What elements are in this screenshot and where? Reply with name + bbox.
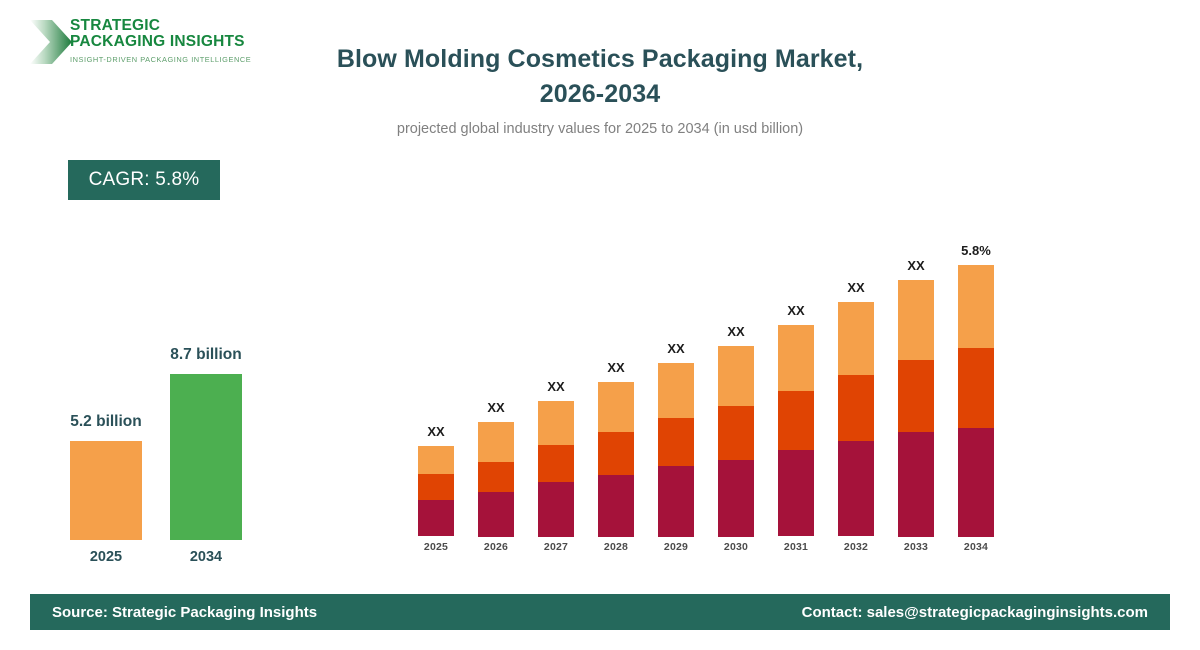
stacked-bar <box>418 446 454 537</box>
comparison-value-label: 8.7 billion <box>126 346 286 364</box>
infographic-canvas: STRATEGIC PACKAGING INSIGHTS INSIGHT-DRI… <box>0 0 1200 650</box>
footer-contact: Contact: sales@strategicpackaginginsight… <box>802 604 1148 621</box>
stacked-bar-segment <box>838 375 874 441</box>
page-subtitle: projected global industry values for 202… <box>260 120 940 138</box>
stacked-bar-segment <box>538 482 574 537</box>
comparison-year-label: 2025 <box>70 549 142 565</box>
footer-bar: Source: Strategic Packaging Insights Con… <box>30 594 1170 630</box>
cagr-badge-label: CAGR: 5.8% <box>89 169 200 191</box>
stacked-year-label: 2027 <box>533 541 579 553</box>
stacked-bar-segment <box>418 446 454 474</box>
stacked-column: XX2029 <box>658 363 694 537</box>
brand-wordmark: STRATEGIC PACKAGING INSIGHTS INSIGHT-DRI… <box>70 18 270 64</box>
stacked-bar-segment <box>418 474 454 500</box>
stacked-bar-segment <box>838 441 874 536</box>
stacked-year-label: 2032 <box>833 541 879 553</box>
cagr-badge: CAGR: 5.8% <box>68 160 220 200</box>
page-title-line2: 2026-2034 <box>260 77 940 112</box>
stacked-column: XX2033 <box>898 280 934 537</box>
stacked-bar-segment <box>718 406 754 460</box>
stacked-bar <box>598 382 634 537</box>
stacked-column: XX2026 <box>478 422 514 537</box>
stacked-bar-segment <box>598 432 634 475</box>
comparison-year-label: 2034 <box>170 549 242 565</box>
stacked-bar-segment <box>778 325 814 391</box>
comparison-bar <box>70 441 142 540</box>
stacked-bar-segment <box>718 346 754 406</box>
stacked-bar-segment <box>658 466 694 537</box>
stacked-value-label: XX <box>696 324 776 339</box>
brand-logo: STRATEGIC PACKAGING INSIGHTS INSIGHT-DRI… <box>28 12 268 74</box>
stacked-bar-segment <box>658 363 694 418</box>
stacked-bar-segment <box>898 280 934 360</box>
stacked-column: XX2032 <box>838 302 874 537</box>
stacked-bar-segment <box>718 460 754 537</box>
stacked-bar <box>658 363 694 537</box>
stacked-bar-segment <box>478 422 514 462</box>
stacked-column: 5.8%2034 <box>958 265 994 537</box>
stacked-bar-segment <box>598 382 634 432</box>
stacked-value-label: 5.8% <box>936 243 1016 258</box>
stacked-value-label: XX <box>876 258 956 273</box>
stacked-bar-segment <box>898 360 934 433</box>
stacked-bar <box>718 346 754 537</box>
comparison-value-label: 5.2 billion <box>26 413 186 431</box>
stacked-bar-segment <box>478 462 514 492</box>
stacked-bar-segment <box>778 391 814 450</box>
title-block: Blow Molding Cosmetics Packaging Market,… <box>260 42 940 138</box>
stacked-bar-chart: XX2025XX2026XX2027XX2028XX2029XX2030XX20… <box>400 200 1020 560</box>
footer-source: Source: Strategic Packaging Insights <box>52 604 317 621</box>
stacked-bar <box>898 280 934 537</box>
brand-tagline: INSIGHT-DRIVEN PACKAGING INTELLIGENCE <box>70 55 270 64</box>
stacked-bar <box>538 401 574 537</box>
stacked-year-label: 2033 <box>893 541 939 553</box>
chevron-right-icon <box>28 16 76 68</box>
stacked-year-label: 2028 <box>593 541 639 553</box>
stacked-bar-segment <box>958 428 994 537</box>
stacked-bar <box>478 422 514 537</box>
stacked-column: XX2031 <box>778 325 814 537</box>
page-title-line1: Blow Molding Cosmetics Packaging Market, <box>260 42 940 77</box>
stacked-year-label: 2030 <box>713 541 759 553</box>
brand-name-line2: PACKAGING INSIGHTS <box>70 34 270 50</box>
stacked-column: XX2027 <box>538 401 574 537</box>
brand-name-line1: STRATEGIC <box>70 18 270 34</box>
stacked-year-label: 2034 <box>953 541 999 553</box>
stacked-bar-segment <box>418 500 454 536</box>
stacked-value-label: XX <box>636 341 716 356</box>
stacked-value-label: XX <box>516 379 596 394</box>
stacked-column: XX2030 <box>718 346 754 537</box>
comparison-chart: 5.2 billion20258.7 billion2034 <box>50 300 290 570</box>
stacked-value-label: XX <box>396 424 476 439</box>
stacked-year-label: 2029 <box>653 541 699 553</box>
stacked-bar <box>778 325 814 537</box>
stacked-bar-segment <box>778 450 814 536</box>
stacked-bar-segment <box>838 302 874 375</box>
stacked-year-label: 2025 <box>413 541 459 553</box>
stacked-year-label: 2031 <box>773 541 819 553</box>
stacked-value-label: XX <box>576 360 656 375</box>
stacked-value-label: XX <box>756 303 836 318</box>
stacked-bar-segment <box>958 265 994 348</box>
stacked-bar-segment <box>898 432 934 537</box>
stacked-bar <box>838 302 874 537</box>
stacked-bar-segment <box>478 492 514 537</box>
page-title: Blow Molding Cosmetics Packaging Market,… <box>260 42 940 112</box>
stacked-bar-segment <box>598 475 634 537</box>
stacked-bar-segment <box>958 348 994 428</box>
stacked-value-label: XX <box>816 280 896 295</box>
stacked-column: XX2028 <box>598 382 634 537</box>
stacked-bar-segment <box>538 445 574 483</box>
comparison-bar <box>170 374 242 540</box>
stacked-column: XX2025 <box>418 446 454 537</box>
stacked-bar <box>958 265 994 537</box>
comparison-column: 5.2 billion2025 <box>70 441 142 540</box>
stacked-bar-segment <box>658 418 694 466</box>
stacked-value-label: XX <box>456 400 536 415</box>
stacked-bar-segment <box>538 401 574 445</box>
comparison-column: 8.7 billion2034 <box>170 374 242 540</box>
stacked-year-label: 2026 <box>473 541 519 553</box>
